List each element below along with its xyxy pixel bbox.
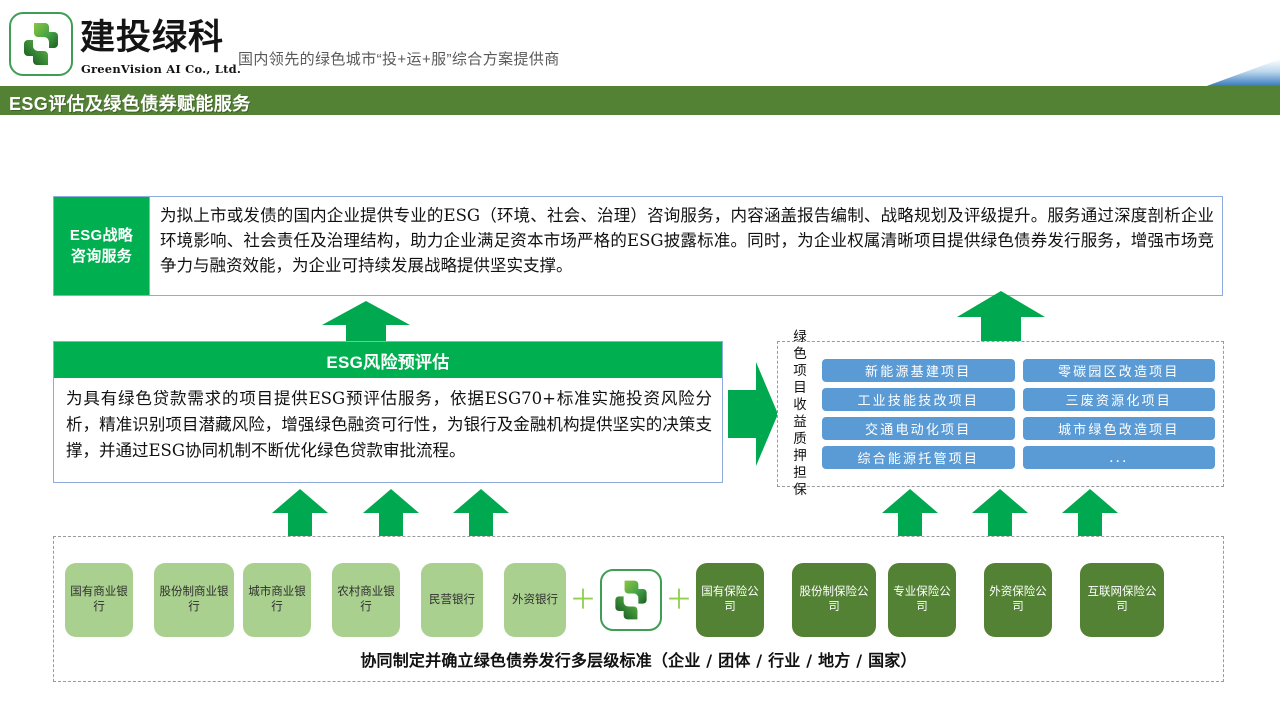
insurer-card[interactable]: 外资保险公司 bbox=[984, 563, 1052, 637]
bank-card[interactable]: 国有商业银行 bbox=[65, 563, 133, 637]
green-project-pledge-panel: 绿色项目收益质押担保 新能源基建项目 工业技能技改项目 交通电动化项目 综合能源… bbox=[777, 341, 1224, 487]
arrow-right-risk-to-projects bbox=[728, 362, 778, 471]
green-project-chip-grid: 新能源基建项目 工业技能技改项目 交通电动化项目 综合能源托管项目 零碳园区改造… bbox=[814, 359, 1215, 469]
decorative-blue-wedge bbox=[1204, 59, 1280, 87]
esg-risk-heading: ESG风险预评估 bbox=[54, 342, 722, 378]
project-chip[interactable]: 交通电动化项目 bbox=[822, 417, 1015, 440]
esg-risk-card: ESG风险预评估 为具有绿色贷款需求的项目提供ESG预评估服务，依据ESG70+… bbox=[53, 341, 723, 483]
arrow-up-institutions-to-projects-3 bbox=[1062, 489, 1118, 541]
insurer-card[interactable]: 股份制保险公司 bbox=[792, 563, 876, 637]
greenvision-clover-icon bbox=[16, 19, 66, 69]
page-title: ESG评估及绿色债券赋能服务 bbox=[9, 90, 251, 116]
bank-card[interactable]: 股份制商业银行 bbox=[154, 563, 234, 637]
section-title-bar: ESG评估及绿色债券赋能服务 bbox=[0, 86, 1280, 115]
arrow-up-institutions-to-risk-1 bbox=[272, 489, 328, 541]
project-chip[interactable]: 三废资源化项目 bbox=[1023, 388, 1216, 411]
insurer-card[interactable]: 互联网保险公司 bbox=[1080, 563, 1164, 637]
greenvision-clover-icon bbox=[608, 577, 654, 623]
institutions-caption: 协同制定并确立绿色债券发行多层级标准（企业 / 团体 / 行业 / 地方 / 国… bbox=[54, 647, 1223, 671]
slide-root: 建投绿科 GreenVision AI Co., Ltd. 国内领先的绿色城市“… bbox=[0, 0, 1280, 719]
insurer-card[interactable]: 专业保险公司 bbox=[888, 563, 956, 637]
arrow-up-projects-to-strategy bbox=[957, 291, 1045, 346]
page-header: 建投绿科 GreenVision AI Co., Ltd. 国内领先的绿色城市“… bbox=[0, 0, 1280, 86]
project-chip[interactable]: 综合能源托管项目 bbox=[822, 446, 1015, 469]
bank-card[interactable]: 民营银行 bbox=[421, 563, 483, 637]
institutions-panel: 国有商业银行 股份制商业银行 城市商业银行 农村商业银行 民营银行 外资银行 ＋ bbox=[53, 536, 1224, 682]
brand-logo-badge bbox=[9, 12, 73, 76]
green-project-column-left: 新能源基建项目 工业技能技改项目 交通电动化项目 综合能源托管项目 bbox=[822, 359, 1015, 469]
insurer-card[interactable]: 国有保险公司 bbox=[696, 563, 764, 637]
esg-strategy-tag: ESG战略 咨询服务 bbox=[54, 197, 149, 295]
brand-name-en: GreenVision AI Co., Ltd. bbox=[81, 62, 241, 76]
esg-strategy-tag-line1: ESG战略 bbox=[70, 225, 133, 246]
project-chip[interactable]: 工业技能技改项目 bbox=[822, 388, 1015, 411]
arrow-up-institutions-to-projects-1 bbox=[882, 489, 938, 541]
project-chip[interactable]: 城市绿色改造项目 bbox=[1023, 417, 1216, 440]
esg-strategy-tag-line2: 咨询服务 bbox=[71, 246, 132, 267]
arrow-up-institutions-to-risk-3 bbox=[453, 489, 509, 541]
arrow-up-institutions-to-projects-2 bbox=[972, 489, 1028, 541]
bank-card[interactable]: 外资银行 bbox=[504, 563, 566, 637]
plus-icon-left: ＋ bbox=[566, 587, 600, 614]
esg-strategy-card: ESG战略 咨询服务 为拟上市或发债的国内企业提供专业的ESG（环境、社会、治理… bbox=[53, 196, 1223, 296]
brand-name-cn: 建投绿科 bbox=[80, 18, 224, 58]
esg-risk-description: 为具有绿色贷款需求的项目提供ESG预评估服务，依据ESG70+标准实施投资风险分… bbox=[54, 378, 722, 464]
esg-strategy-description: 为拟上市或发债的国内企业提供专业的ESG（环境、社会、治理）咨询服务，内容涵盖报… bbox=[149, 197, 1222, 295]
center-brand-logo bbox=[600, 569, 662, 631]
arrow-up-institutions-to-risk-2 bbox=[363, 489, 419, 541]
plus-icon-right: ＋ bbox=[662, 587, 696, 614]
project-chip[interactable]: 零碳园区改造项目 bbox=[1023, 359, 1216, 382]
green-project-column-right: 零碳园区改造项目 三废资源化项目 城市绿色改造项目 ... bbox=[1023, 359, 1216, 469]
project-chip-more[interactable]: ... bbox=[1023, 446, 1216, 469]
bank-card[interactable]: 农村商业银行 bbox=[332, 563, 400, 637]
project-chip[interactable]: 新能源基建项目 bbox=[822, 359, 1015, 382]
brand-tagline: 国内领先的绿色城市“投+运+服”综合方案提供商 bbox=[238, 48, 560, 69]
green-project-pledge-label: 绿色项目收益质押担保 bbox=[786, 329, 814, 499]
institutions-row: 国有商业银行 股份制商业银行 城市商业银行 农村商业银行 民营银行 外资银行 ＋ bbox=[65, 561, 1212, 639]
bank-card[interactable]: 城市商业银行 bbox=[243, 563, 311, 637]
